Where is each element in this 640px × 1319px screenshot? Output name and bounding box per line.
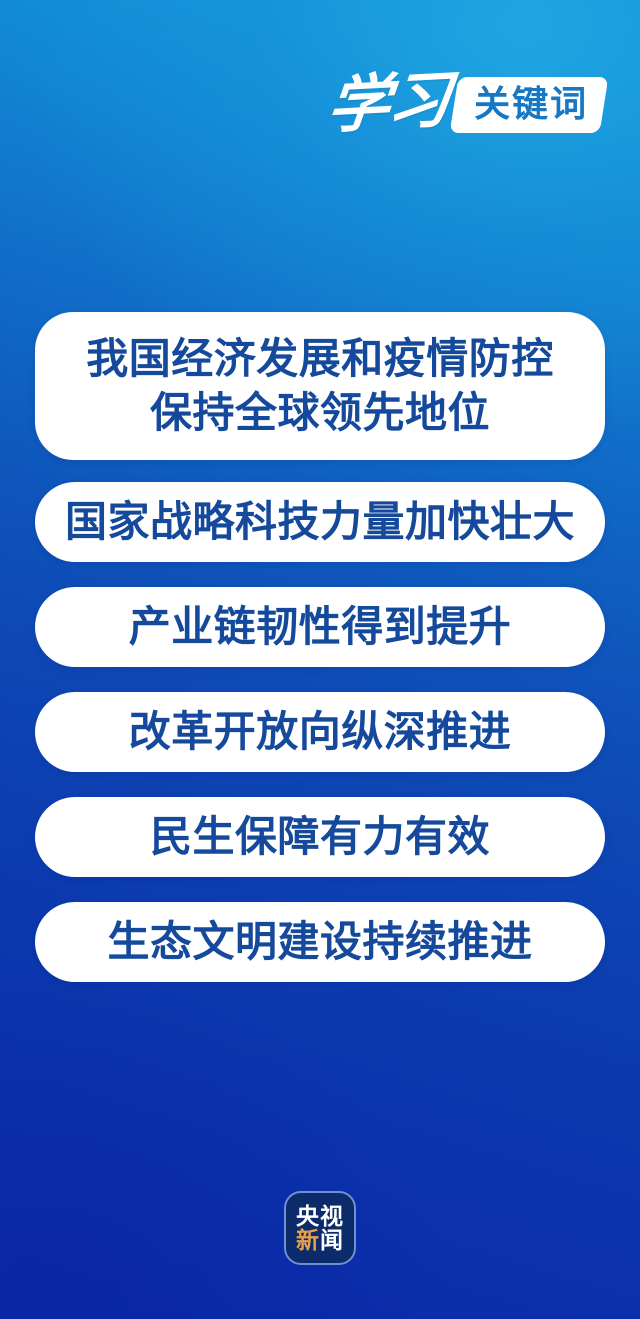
keyword-card-6[interactable]: 生态文明建设持续推进 — [35, 902, 605, 982]
logo-char-shi: 视 — [320, 1205, 344, 1228]
logo-char-wen: 闻 — [320, 1229, 344, 1252]
poster-footer: 央 视 新 闻 — [0, 1191, 640, 1265]
keyword-card-6-text: 生态文明建设持续推进 — [85, 921, 554, 963]
cctv-news-logo-icon: 央 视 新 闻 — [284, 1191, 356, 1265]
poster-header: 学习 关键词 — [0, 56, 640, 156]
keyword-card-4[interactable]: 改革开放向纵深推进 — [35, 692, 605, 772]
logo-char-yang: 央 — [296, 1205, 320, 1228]
keyword-card-2-text: 国家战略科技力量加快壮大 — [43, 501, 597, 543]
keyword-card-2[interactable]: 国家战略科技力量加快壮大 — [35, 482, 605, 562]
keyword-card-5[interactable]: 民生保障有力有效 — [35, 797, 605, 877]
logo-line-2: 新 闻 — [296, 1229, 344, 1252]
brand-script-title: 学习 — [324, 69, 451, 137]
keyword-card-3-text: 产业链韧性得到提升 — [107, 606, 534, 648]
keyword-card-5-text: 民生保障有力有效 — [128, 816, 512, 858]
keyword-card-1-text: 我国经济发展和疫情防控 保持全球领先地位 — [64, 332, 576, 440]
keyword-card-3[interactable]: 产业链韧性得到提升 — [35, 587, 605, 667]
keyword-card-4-text: 改革开放向纵深推进 — [107, 711, 534, 753]
brand-badge-label: 关键词 — [474, 86, 588, 122]
poster-canvas: 学习 关键词 我国经济发展和疫情防控 保持全球领先地位 国家战略科技力量加快壮大… — [0, 0, 640, 1319]
keyword-card-list: 我国经济发展和疫情防控 保持全球领先地位 国家战略科技力量加快壮大 产业链韧性得… — [35, 312, 605, 982]
logo-char-xin: 新 — [296, 1229, 320, 1252]
brand-badge: 关键词 — [450, 77, 609, 133]
keyword-card-1[interactable]: 我国经济发展和疫情防控 保持全球领先地位 — [35, 312, 605, 460]
logo-line-1: 央 视 — [296, 1205, 344, 1228]
